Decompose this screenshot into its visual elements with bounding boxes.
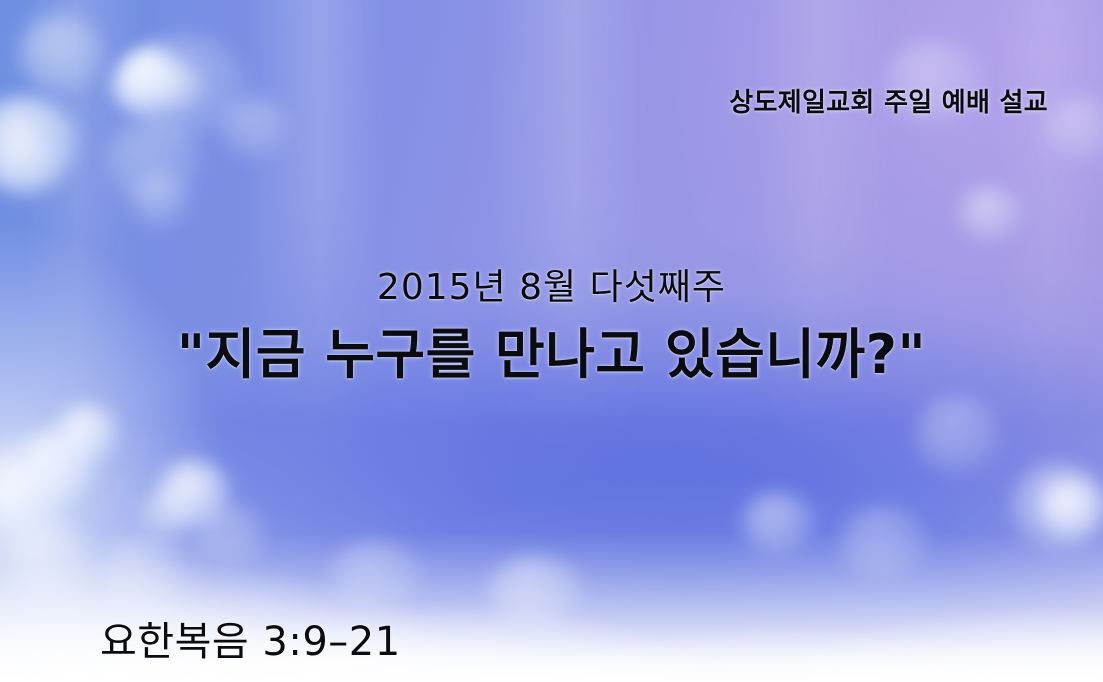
sermon-title-text: "지금 누구를 만나고 있습니까?" [0, 310, 1103, 389]
bokeh-blob [18, 14, 104, 92]
bokeh-blob [4, 520, 96, 600]
bokeh-blob [1046, 96, 1103, 160]
bokeh-blob [916, 396, 1000, 472]
sermon-date-line: 2015년 8월 다섯째주 [0, 258, 1103, 310]
bokeh-blob [56, 404, 118, 462]
bokeh-blob [152, 62, 204, 110]
bokeh-blob [196, 504, 266, 566]
bokeh-blob [222, 96, 288, 158]
bokeh-blob [98, 536, 182, 610]
sermon-title-slide: 상도제일교회 주일 예배 설교 2015년 8월 다섯째주 "지금 누구를 만나… [0, 0, 1103, 682]
church-service-header: 상도제일교회 주일 예배 설교 [729, 82, 1048, 119]
bokeh-blob [330, 540, 422, 610]
bokeh-blob [488, 556, 584, 624]
bokeh-blob [1040, 478, 1103, 538]
bokeh-blob [130, 172, 190, 228]
bokeh-blob [960, 186, 1020, 240]
bokeh-blob [742, 492, 814, 552]
scripture-reference: 요한복음 3:9–21 [100, 609, 401, 667]
bokeh-blob [840, 506, 928, 578]
bokeh-blob [140, 490, 194, 540]
